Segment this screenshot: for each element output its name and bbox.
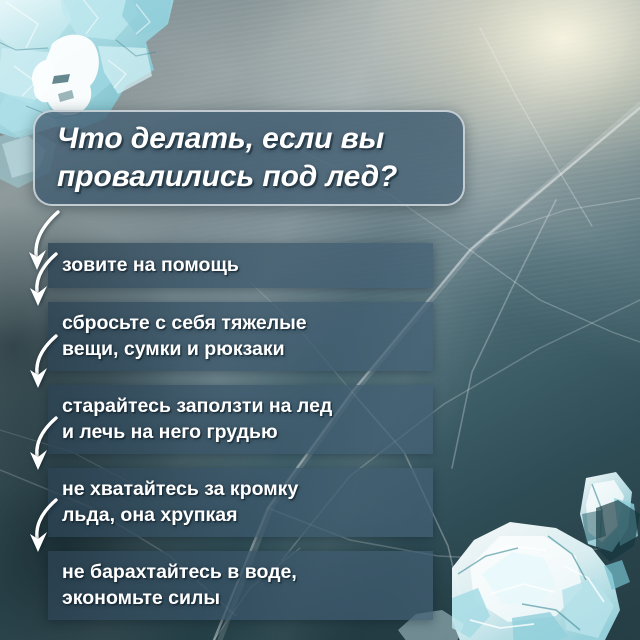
page-title-line-2: провалились под лед? [57, 158, 441, 196]
steps-list: зовите на помощь сбросьте с себя тяжелые… [48, 243, 433, 634]
list-item: не барахтайтесь в воде, экономьте силы [48, 551, 433, 620]
step-text-line: и лечь на него грудью [62, 419, 419, 445]
title-banner: Что делать, если вы провалились под лед? [33, 110, 465, 206]
page-title-line-1: Что делать, если вы [57, 120, 441, 158]
list-item: сбросьте с себя тяжелые вещи, сумки и рю… [48, 302, 433, 371]
list-item: не хватайтесь за кромку льда, она хрупка… [48, 468, 433, 537]
poster-canvas: Что делать, если вы провалились под лед?… [0, 0, 640, 640]
step-text-line: зовите на помощь [62, 252, 419, 278]
step-text-line: льда, она хрупкая [62, 502, 419, 528]
step-text-line: не хватайтесь за кромку [62, 476, 419, 502]
step-text-line: вещи, сумки и рюкзаки [62, 336, 419, 362]
dark-water-gap-icon [596, 500, 640, 570]
step-text-line: не барахтайтесь в воде, [62, 559, 419, 585]
list-item: старайтесь заползти на лед и лечь на нег… [48, 385, 433, 454]
step-text-line: сбросьте с себя тяжелые [62, 310, 419, 336]
list-item: зовите на помощь [48, 243, 433, 288]
step-text-line: экономьте силы [62, 585, 419, 611]
step-text-line: старайтесь заползти на лед [62, 393, 419, 419]
